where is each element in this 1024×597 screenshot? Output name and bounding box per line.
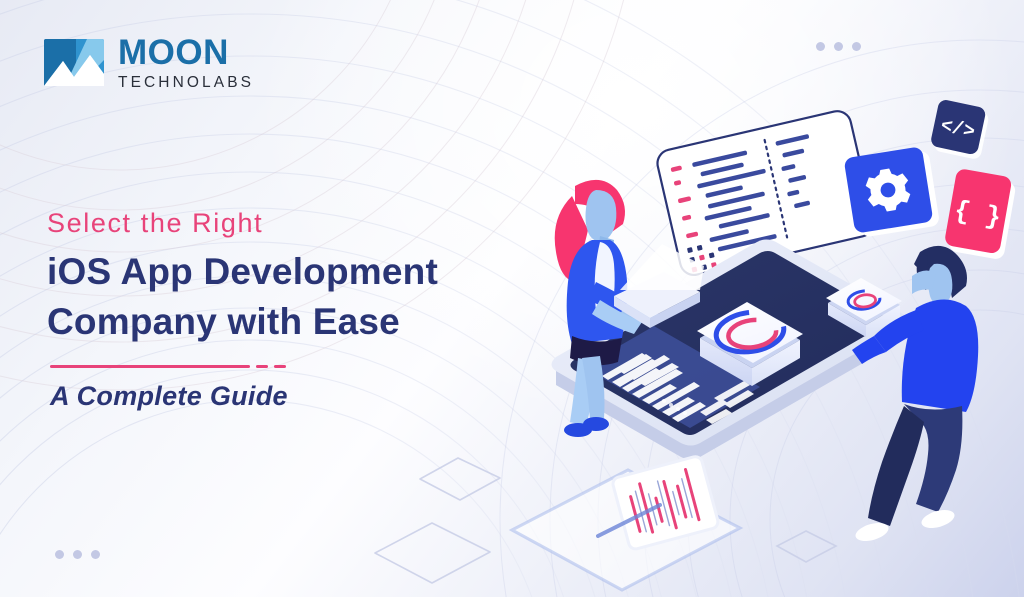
gear-card — [844, 145, 941, 238]
hero-banner: MOON TECHNOLABS Select the Right iOS App… — [0, 0, 1024, 597]
curly-braces-card: { } — [943, 168, 1017, 260]
hero-illustration: </> { } — [0, 0, 1024, 597]
code-tag-card: </> — [929, 99, 991, 161]
